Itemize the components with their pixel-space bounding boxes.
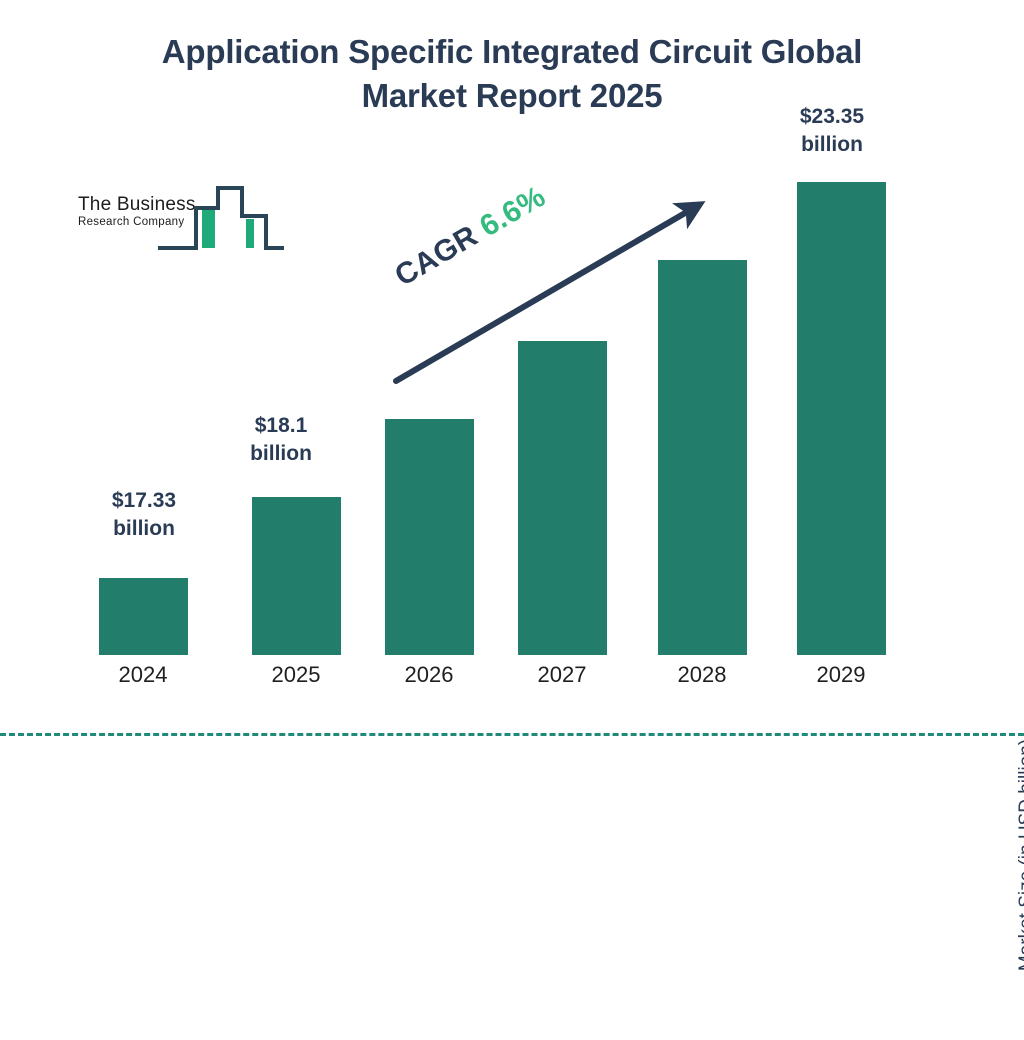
x-tick-2029: 2029 xyxy=(786,662,896,688)
x-tick-2028: 2028 xyxy=(647,662,757,688)
plot-area: $17.33 billion $18.1 billion $23.35 bill… xyxy=(0,0,1024,768)
x-tick-2024: 2024 xyxy=(88,662,198,688)
value-label-2025: $18.1 billion xyxy=(225,412,337,468)
x-tick-2027: 2027 xyxy=(507,662,617,688)
x-tick-2026: 2026 xyxy=(374,662,484,688)
chart-page: Application Specific Integrated Circuit … xyxy=(0,0,1024,768)
bar-2025 xyxy=(252,497,341,655)
y-axis-title: Market Size (in USD billion) xyxy=(1016,670,1024,1040)
cagr-annotation: CAGR 6.6% xyxy=(389,180,551,294)
bar-2026 xyxy=(385,419,474,655)
bar-2024 xyxy=(99,578,188,655)
cagr-label: CAGR xyxy=(389,219,483,293)
value-label-2029: $23.35 billion xyxy=(776,103,888,159)
bar-2029 xyxy=(797,182,886,655)
footer-divider xyxy=(0,733,1024,736)
cagr-value: 6.6% xyxy=(474,180,551,244)
value-label-2024: $17.33 billion xyxy=(88,487,200,543)
bar-2027 xyxy=(518,341,607,655)
bar-2028 xyxy=(658,260,747,655)
x-tick-2025: 2025 xyxy=(241,662,351,688)
